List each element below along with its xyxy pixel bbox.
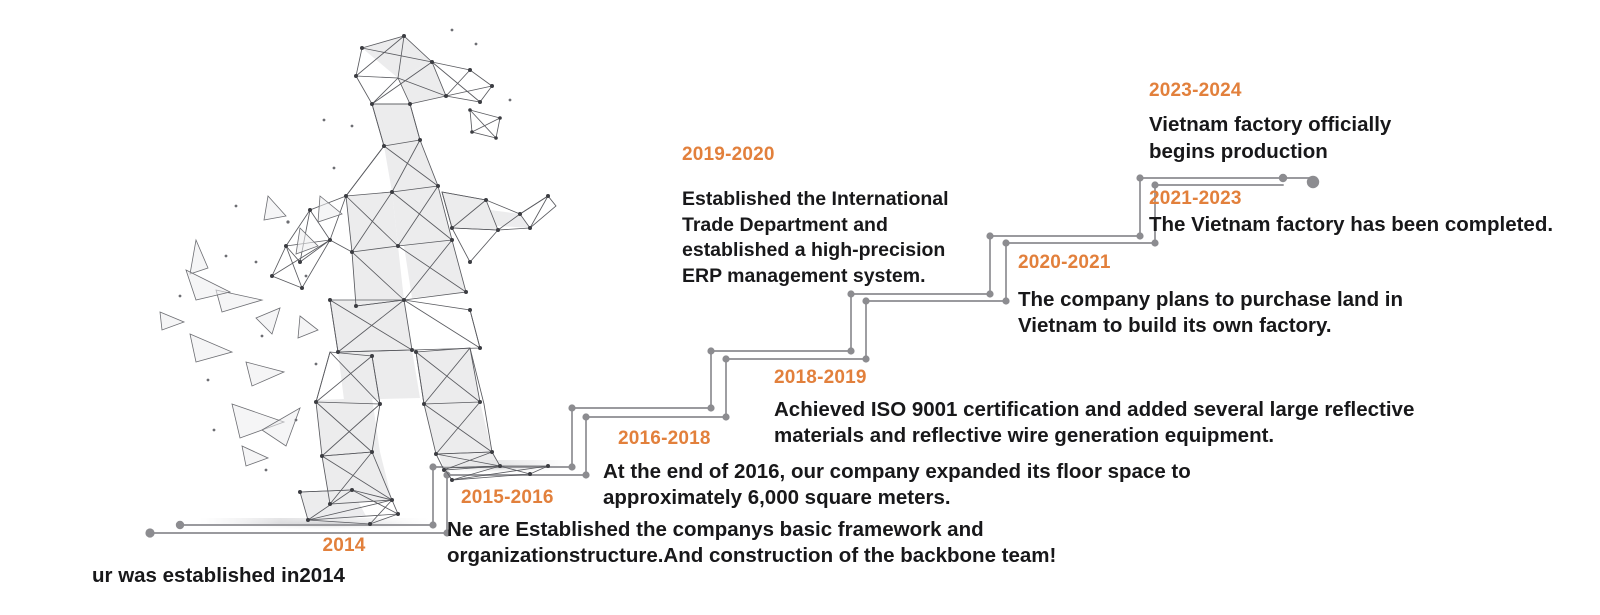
figure-facets: [300, 36, 530, 520]
timeline-year-2019-2020: 2019-2020: [682, 145, 949, 166]
timeline-entry-2014[interactable]: 2014 ur was established in2014: [92, 536, 484, 589]
timeline-description-2021-2023: The Vietnam factory has been completed.: [1149, 212, 1553, 238]
timeline-year-2020-2021: 2020-2021: [1018, 253, 1403, 274]
dispersing-particles: [160, 196, 342, 466]
timeline-entry-2020-2021[interactable]: 2020-2021 The company plans to purchase …: [1018, 253, 1403, 338]
figure-vertices: [270, 34, 550, 526]
figure-arm: [442, 192, 556, 262]
figure-torso: [346, 104, 466, 306]
timeline-entry-2019-2020[interactable]: 2019-2020 Established the International …: [682, 145, 949, 290]
timeline-entry-2023-2024[interactable]: 2023-2024 Vietnam factory officially beg…: [1149, 81, 1391, 165]
timeline-year-2018-2019: 2018-2019: [774, 368, 1414, 389]
timeline-description-2020-2021: The company plans to purchase land in Vi…: [1018, 287, 1403, 338]
timeline-year-2023-2024: 2023-2024: [1149, 81, 1391, 102]
figure-hips: [330, 300, 480, 352]
timeline-year-2014: 2014: [204, 536, 484, 557]
timeline-entry-2018-2019[interactable]: 2018-2019 Achieved ISO 9001 certificatio…: [774, 368, 1414, 448]
timeline-description-2014: ur was established in2014: [92, 563, 484, 589]
figure-back-leg: [300, 352, 398, 524]
timeline-entry-2021-2023[interactable]: 2021-2023 The Vietnam factory has been c…: [1149, 189, 1553, 238]
figure-head: [356, 36, 500, 138]
infographic-canvas: 2014 ur was established in2014 2015-2016…: [0, 0, 1600, 615]
figure-rear-arm: [272, 196, 352, 288]
timeline-year-2021-2023: 2021-2023: [1149, 189, 1553, 210]
figure-front-leg: [416, 348, 548, 480]
timeline-description-2023-2024: Vietnam factory officially begins produc…: [1149, 112, 1391, 165]
timeline-description-2016-2018: At the end of 2016, our company expanded…: [603, 459, 1191, 510]
timeline-description-2015-2016: Ne are Established the companys basic fr…: [447, 517, 1056, 568]
dispersing-particle-dots: [179, 29, 512, 472]
timeline-description-2019-2020: Established the International Trade Depa…: [682, 187, 949, 290]
timeline-description-2018-2019: Achieved ISO 9001 certification and adde…: [774, 397, 1414, 448]
low-poly-walking-figure: [270, 34, 556, 526]
